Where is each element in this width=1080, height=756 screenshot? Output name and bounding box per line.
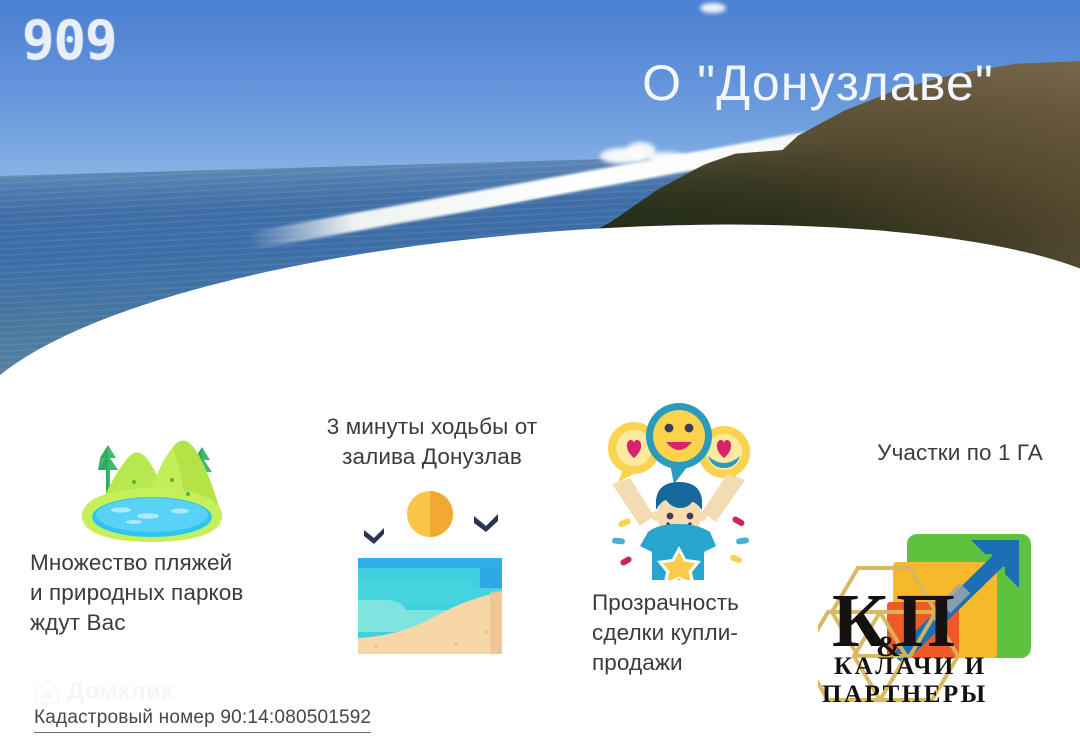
beach-sea-icon (340, 486, 520, 654)
feature-label: 3 минуты ходьбы от залива Донузлав (303, 412, 561, 472)
feature-plot-size: Участки по 1 ГА (845, 438, 1075, 468)
feature-label: Множество пляжей и природных парков ждут… (30, 548, 300, 638)
feature-label: Участки по 1 ГА (845, 438, 1075, 468)
icon-container (340, 486, 561, 654)
logo-line1: КАЛАЧИ И (834, 653, 987, 680)
company-logo: К & П КАЛАЧИ И ПАРТНЕРЫ (818, 556, 1003, 716)
feature-beaches-parks: Множество пляжей и природных парков ждут… (30, 424, 300, 638)
feature-label: Прозрачность сделки купли- продажи (592, 588, 816, 678)
feature-transparent-deal: Прозрачность сделки купли- продажи (592, 400, 816, 678)
watermark-909: 909 (22, 14, 117, 68)
happy-person-icon (596, 400, 761, 580)
cloud-icon (678, 156, 706, 165)
page-title: О "Донузлаве" (642, 52, 994, 115)
logo-monogram-p: П (896, 579, 955, 663)
cloud-icon (700, 3, 726, 13)
house-icon (34, 679, 60, 705)
lake-forest-icon (76, 424, 226, 542)
logo-line2: ПАРТНЕРЫ (822, 681, 988, 708)
domclick-watermark: Домклик (34, 678, 174, 706)
domclick-label: Домклик (67, 678, 174, 706)
icon-container (596, 400, 816, 580)
icon-container (76, 424, 300, 542)
cadastre-number: Кадастровый номер 90:14:080501592 (34, 706, 371, 733)
feature-walk-to-bay: 3 минуты ходьбы от залива Донузлав (303, 412, 561, 654)
promo-slide: 909 О "Донузлаве" (0, 0, 1080, 756)
